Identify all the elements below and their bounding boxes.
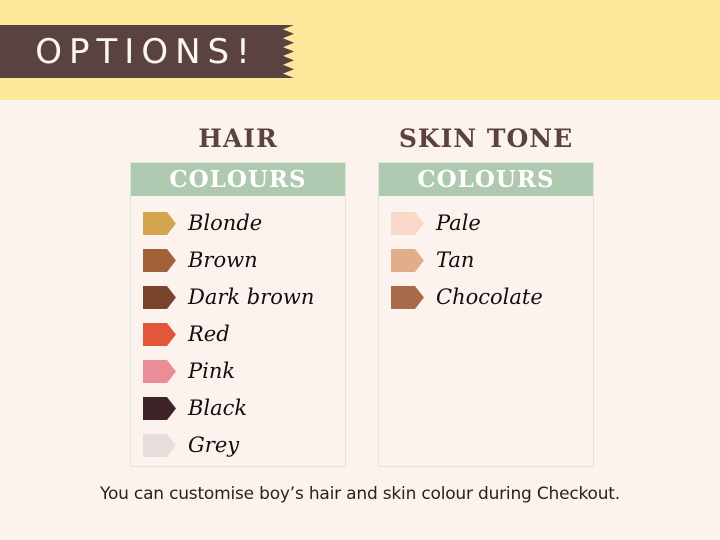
- swatch-row[interactable]: Grey: [143, 427, 345, 464]
- column-hair: HAIR COLOURS BlondeBrownDark brownRedPin…: [130, 122, 346, 467]
- colour-swatch-icon: [143, 212, 176, 235]
- colour-swatch-icon: [143, 249, 176, 272]
- swatch-row[interactable]: Dark brown: [143, 279, 345, 316]
- colour-swatch-icon: [391, 249, 424, 272]
- swatch-row[interactable]: Brown: [143, 242, 345, 279]
- swatch-label: Chocolate: [436, 287, 543, 308]
- card-skin: COLOURS PaleTanChocolate: [378, 162, 594, 467]
- swatch-row[interactable]: Red: [143, 316, 345, 353]
- colour-swatch-icon: [143, 360, 176, 383]
- banner-zigzag-edge: [280, 25, 297, 78]
- column-title-hair: HAIR: [130, 122, 346, 156]
- swatch-label: Blonde: [188, 213, 262, 234]
- colour-swatch-icon: [391, 286, 424, 309]
- column-skin: SKIN TONE COLOURS PaleTanChocolate: [378, 122, 594, 467]
- banner-title: OPTIONS!: [0, 25, 282, 78]
- swatch-label: Red: [188, 324, 230, 345]
- column-title-skin: SKIN TONE: [378, 122, 594, 156]
- colour-swatch-icon: [143, 397, 176, 420]
- swatch-list-skin: PaleTanChocolate: [379, 196, 593, 316]
- swatch-label: Grey: [188, 435, 239, 456]
- swatch-label: Dark brown: [188, 287, 314, 308]
- swatch-label: Black: [188, 398, 247, 419]
- swatch-label: Pink: [188, 361, 235, 382]
- colour-swatch-icon: [143, 323, 176, 346]
- swatch-list-hair: BlondeBrownDark brownRedPinkBlackGrey: [131, 196, 345, 464]
- card-header-skin: COLOURS: [379, 163, 593, 196]
- card-hair: COLOURS BlondeBrownDark brownRedPinkBlac…: [130, 162, 346, 467]
- swatch-row[interactable]: Pink: [143, 353, 345, 390]
- swatch-row[interactable]: Pale: [391, 205, 593, 242]
- card-header-hair: COLOURS: [131, 163, 345, 196]
- footer-caption: You can customise boy’s hair and skin co…: [0, 484, 720, 504]
- colour-swatch-icon: [143, 434, 176, 457]
- colour-swatch-icon: [391, 212, 424, 235]
- swatch-label: Pale: [436, 213, 481, 234]
- swatch-row[interactable]: Black: [143, 390, 345, 427]
- options-banner: OPTIONS!: [0, 25, 297, 78]
- swatch-row[interactable]: Tan: [391, 242, 593, 279]
- swatch-label: Tan: [436, 250, 474, 271]
- swatch-label: Brown: [188, 250, 258, 271]
- colour-swatch-icon: [143, 286, 176, 309]
- swatch-row[interactable]: Blonde: [143, 205, 345, 242]
- swatch-row[interactable]: Chocolate: [391, 279, 593, 316]
